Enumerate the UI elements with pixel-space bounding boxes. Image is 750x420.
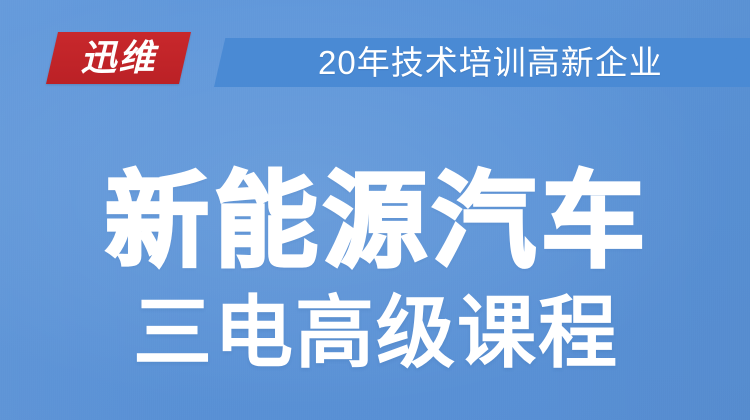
promo-poster: 迅维 20年技术培训高新企业 新能源汽车 三电高级课程 <box>0 0 750 420</box>
brand-logo-text: 迅维 <box>52 32 185 84</box>
poster-header: 迅维 20年技术培训高新企业 <box>0 0 750 110</box>
poster-subtitle: 三电高级课程 <box>0 288 750 378</box>
poster-title: 新能源汽车 <box>0 166 750 278</box>
poster-tagline: 20年技术培训高新企业 <box>318 39 663 87</box>
